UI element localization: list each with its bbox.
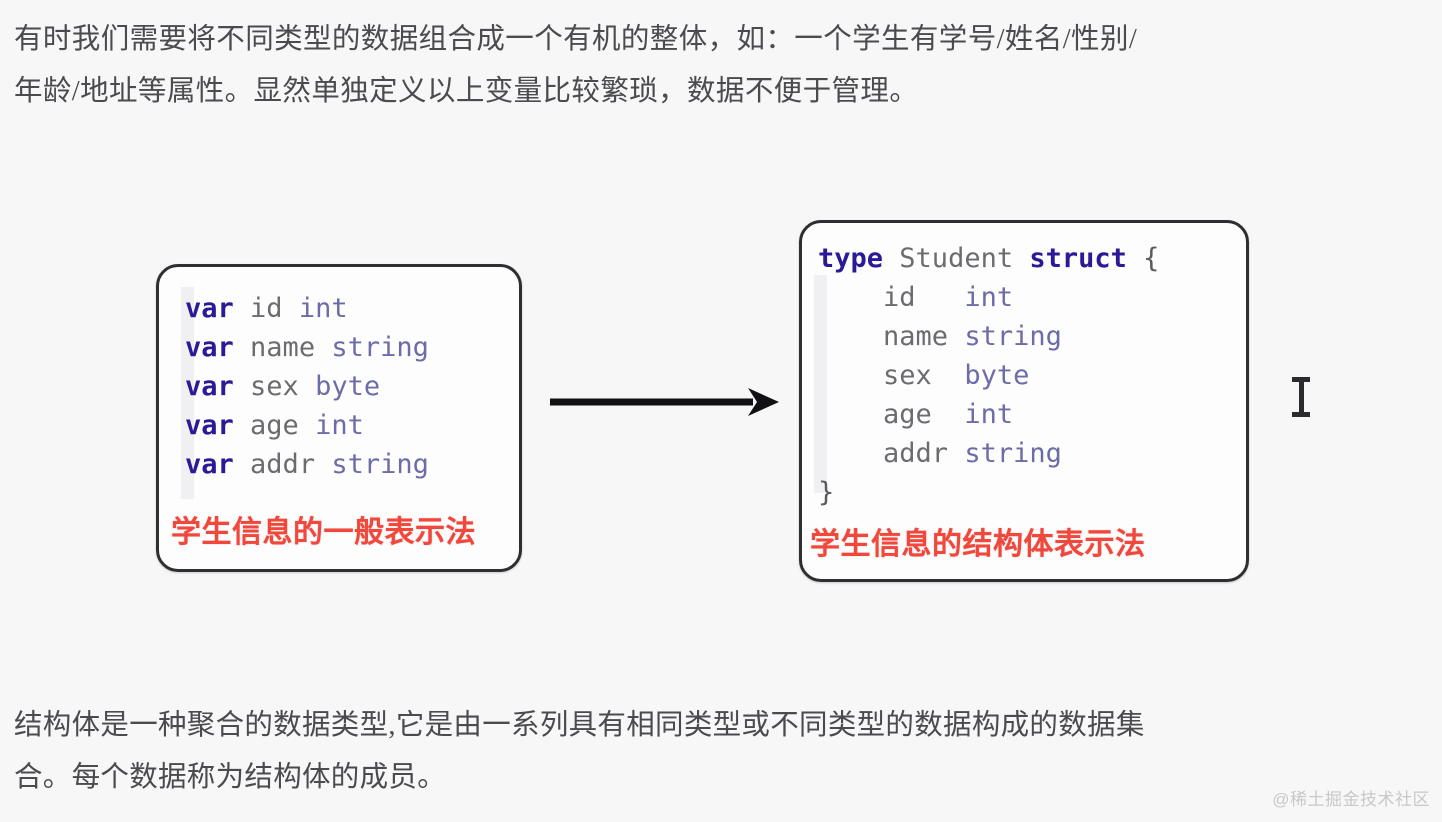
- keyword-var: var: [185, 449, 234, 480]
- field-type: byte: [315, 371, 380, 402]
- code-line: var addr string: [185, 449, 429, 480]
- keyword-struct: struct: [1029, 243, 1127, 274]
- field-name: age: [250, 410, 299, 441]
- field-name: addr: [250, 449, 315, 480]
- field-name: addr: [883, 438, 948, 469]
- code-line-field: sex byte: [818, 360, 1029, 391]
- text-ibeam-cursor: [1288, 376, 1314, 418]
- field-type: int: [964, 399, 1013, 430]
- field-type: string: [964, 438, 1062, 469]
- field-name: sex: [250, 371, 299, 402]
- struct-name: Student: [899, 243, 1013, 274]
- code-line: var name string: [185, 332, 429, 363]
- field-name: id: [883, 282, 916, 313]
- field-name: id: [250, 293, 283, 324]
- field-name: sex: [883, 360, 932, 391]
- struct-declaration-caption: 学生信息的结构体表示法: [810, 519, 1146, 563]
- plain-declaration-card: var id int var name string var sex byte …: [156, 264, 522, 572]
- open-brace: {: [1143, 243, 1159, 274]
- field-type: int: [299, 293, 348, 324]
- keyword-var: var: [185, 332, 234, 363]
- code-line: var id int: [185, 293, 348, 324]
- field-name: name: [883, 321, 948, 352]
- keyword-var: var: [185, 293, 234, 324]
- code-line: var age int: [185, 410, 364, 441]
- field-type: string: [964, 321, 1062, 352]
- watermark: @稀土掘金技术社区: [1272, 785, 1430, 810]
- field-type: byte: [964, 360, 1029, 391]
- intro-paragraph: 有时我们需要将不同类型的数据组合成一个有机的整体，如：一个学生有学号/姓名/性别…: [14, 14, 1418, 118]
- field-name: name: [250, 332, 315, 363]
- code-line: var sex byte: [185, 371, 380, 402]
- keyword-var: var: [185, 410, 234, 441]
- close-brace: }: [818, 477, 834, 508]
- field-type: string: [331, 332, 429, 363]
- code-line-header: type Student struct {: [818, 243, 1159, 274]
- field-type: int: [315, 410, 364, 441]
- plain-declaration-caption: 学生信息的一般表示法: [171, 507, 476, 551]
- field-type: int: [964, 282, 1013, 313]
- struct-concept-diagram: var id int var name string var sex byte …: [0, 200, 1442, 610]
- field-type: string: [331, 449, 429, 480]
- struct-declaration-card: type Student struct { id int name string…: [799, 220, 1249, 582]
- code-line-field: id int: [818, 282, 1013, 313]
- field-name: age: [883, 399, 932, 430]
- code-line-field: addr string: [818, 438, 1062, 469]
- keyword-type: type: [818, 243, 883, 274]
- code-line-field: name string: [818, 321, 1062, 352]
- plain-declaration-code: var id int var name string var sex byte …: [185, 289, 429, 484]
- summary-paragraph: 结构体是一种聚合的数据类型,它是由一系列具有相同类型或不同类型的数据构成的数据集…: [14, 700, 1418, 804]
- struct-declaration-code: type Student struct { id int name string…: [818, 239, 1159, 512]
- arrow-right-icon: [548, 385, 780, 419]
- code-line-field: age int: [818, 399, 1013, 430]
- code-line-close: }: [818, 477, 834, 508]
- keyword-var: var: [185, 371, 234, 402]
